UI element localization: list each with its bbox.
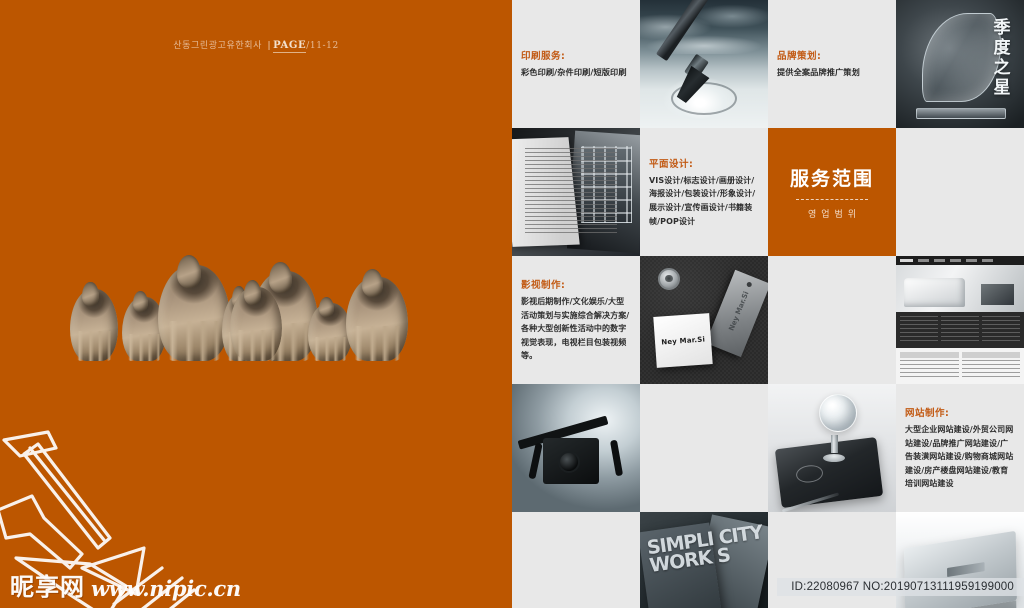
mock-content-area (896, 348, 1024, 384)
crystal-trophy-image: 季度之星 (896, 0, 1024, 128)
mock-nav-item (950, 259, 961, 262)
grid-cell-website-image (896, 256, 1024, 384)
cloud-layer (640, 0, 768, 54)
camera-gimbal-image (512, 384, 640, 512)
grid-cell-simplicity-image: SIMPLI CITY WORK S (640, 512, 768, 608)
book-text-lines (525, 148, 617, 235)
grid-cell-feature-scope: 服务范围 영업범위 (768, 128, 896, 256)
website-production-heading: 网站制作: (905, 405, 1015, 419)
brochure-page: 산동그린광고유한회사 |PAGE/11-12 (0, 0, 1024, 608)
simplicity-brochure-image: SIMPLI CITY WORK S (640, 512, 768, 608)
grid-cell-blank-r2c4 (896, 128, 1024, 256)
grid-cell-graphic-design-text: 平面设计: VIS设计/标志设计/画册设计/海报设计/包装设计/形象设计/展示设… (640, 128, 768, 256)
white-hangtag: Ney Mar.Si (654, 313, 714, 368)
rig-handle-right (609, 440, 622, 476)
branding-body: 提供全案品牌推广策划 (777, 66, 887, 80)
glass-globe-notebook-image (768, 384, 896, 512)
website-production-body: 大型企业网站建设/外贸公司网站建设/品牌推广网站建设/广告装潢网站建设/购物商城… (905, 423, 1015, 491)
open-book-image (512, 128, 640, 256)
grid-cell-blank-r3c3 (768, 256, 896, 384)
film-production-heading: 影视制作: (521, 277, 631, 291)
printing-body: 彩色印刷/杂件印刷/短版印刷 (521, 66, 631, 80)
grid-cell-globe-image (768, 384, 896, 512)
watermark: 昵享网 www.nipic.cn (10, 567, 241, 602)
page-label: PAGE (273, 40, 306, 53)
mock-nav-item (918, 259, 929, 262)
grid-cell-website-production-text: 网站制作: 大型企业网站建设/外贸公司网站建设/品牌推广网站建设/广告装潢网站建… (896, 384, 1024, 512)
laptop-lid (904, 531, 1016, 608)
globe-stem (831, 435, 838, 453)
left-cover-panel: 산동그린광고유한회사 |PAGE/11-12 (0, 0, 512, 608)
graphic-design-body: VIS设计/标志设计/画册设计/海报设计/包装设计/形象设计/展示设计/宣传画设… (649, 174, 759, 228)
wolf-pack-image (60, 243, 460, 361)
rig-handle-left (529, 443, 543, 480)
graphic-design-heading: 平面设计: (649, 156, 759, 170)
grid-cell-camera-rig-image (512, 384, 640, 512)
mock-article (900, 352, 959, 380)
grid-cell-film-production-text: 影视制作: 影视后期制作/文化娱乐/大型活动策划与实施综合解决方案/各种大型创新… (512, 256, 640, 384)
mock-hero (896, 265, 1024, 312)
watermark-site-name: 昵享网 (10, 567, 85, 602)
camera-lens (558, 451, 580, 473)
header-separator: | (267, 41, 271, 51)
grid-cell-branding-text: 品牌策划: 提供全案品牌推广策划 (768, 0, 896, 128)
mock-article (962, 352, 1021, 380)
printing-heading: 印刷服务: (521, 48, 631, 62)
mock-column (941, 316, 979, 344)
white-hangtag-text: Ney Mar.Si (661, 335, 705, 346)
service-grid: 印刷服务: 彩色印刷/杂件印刷/短版印刷 品牌策划: 提供全案品牌推广策划 (512, 0, 1024, 608)
mock-column (982, 316, 1020, 344)
paintbrush-seascape-image (640, 0, 768, 128)
mock-navbar (896, 256, 1024, 265)
mock-dark-band (896, 312, 1024, 348)
grid-cell-trophy-image: 季度之星 (896, 0, 1024, 128)
trophy-caption: 季度之星 (987, 18, 1012, 98)
website-mockup-image (896, 256, 1024, 384)
dark-hangtag: Ney Mar.Si (706, 270, 768, 358)
grid-cell-blank-r5c1 (512, 512, 640, 608)
button-icon (658, 268, 680, 290)
grid-cell-paintbrush-image (640, 0, 768, 128)
feature-title-kr: 영업범위 (803, 207, 861, 220)
glass-orb (819, 394, 857, 432)
mock-nav-item (934, 259, 945, 262)
grid-cell-printing-text: 印刷服务: 彩色印刷/杂件印刷/短版印刷 (512, 0, 640, 128)
grid-cell-blank-r4c2 (640, 384, 768, 512)
film-production-body: 影视后期制作/文化娱乐/大型活动策划与实施综合解决方案/各种大型创新性活动中的数… (521, 295, 631, 363)
cover-header: 산동그린광고유한회사 |PAGE/11-12 (0, 38, 512, 51)
id-stamp: ID:22080967 NO:20190713111959199000 (777, 578, 1024, 596)
feature-title-cn: 服务范围 (790, 164, 874, 191)
dark-hangtag-text: Ney Mar.Si (728, 290, 751, 332)
page-numbers: /11-12 (306, 41, 339, 51)
branding-heading: 品牌策划: (777, 48, 887, 62)
grid-cell-hangtag-image: Ney Mar.Si Ney Mar.Si (640, 256, 768, 384)
mock-nav-item (982, 259, 993, 262)
hangtag-branding-image: Ney Mar.Si Ney Mar.Si (640, 256, 768, 384)
trophy-base (916, 108, 1006, 120)
feature-divider (796, 199, 868, 200)
mock-logo (900, 259, 913, 262)
mock-nav-item (966, 259, 977, 262)
grid-cell-book-image (512, 128, 640, 256)
company-name: 산동그린광고유한회사 (173, 41, 262, 51)
watermark-url: www.nipic.cn (91, 576, 241, 602)
mock-column (900, 316, 938, 344)
